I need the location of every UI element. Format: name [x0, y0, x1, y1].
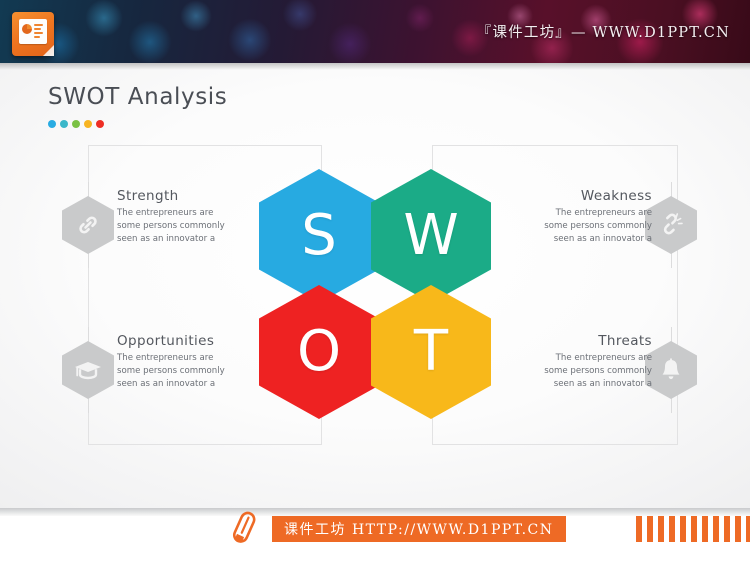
dot-red — [96, 120, 104, 128]
quadrant-body-opportunities: The entrepreneurs are some persons commo… — [117, 352, 277, 391]
logo-text-lines — [34, 24, 43, 40]
icon-pin-weakness — [645, 196, 697, 254]
banner-brand-text: 『课件工坊』— WWW.D1PPT.CN — [477, 0, 730, 63]
logo-pie-chart-icon — [22, 24, 32, 34]
quadrant-heading-weakness: Weakness — [500, 188, 652, 204]
powerpoint-logo-icon — [12, 12, 54, 56]
quadrant-heading-opportunities: Opportunities — [117, 333, 277, 349]
hexagon-strength[interactable]: S — [259, 169, 379, 303]
page-title: SWOT Analysis — [48, 84, 227, 110]
broken-chain-link-icon — [645, 196, 697, 254]
dot-yellow — [84, 120, 92, 128]
quadrant-heading-threats: Threats — [498, 333, 652, 349]
icon-pin-strength — [62, 196, 114, 254]
hexagon-letter-w: W — [371, 169, 491, 303]
logo-card-shape — [19, 19, 47, 44]
quadrant-body-threats: The entrepreneurs are some persons commo… — [498, 352, 652, 391]
icon-pin-opportunities — [62, 341, 114, 399]
chain-link-icon — [62, 196, 114, 254]
quadrant-body-weakness: The entrepreneurs are some persons commo… — [500, 207, 652, 246]
dot-green — [72, 120, 80, 128]
footer-stripes — [636, 516, 750, 542]
hexagon-threats[interactable]: T — [371, 285, 491, 419]
icon-pin-threats — [645, 341, 697, 399]
accent-dots — [48, 120, 104, 128]
bell-icon — [645, 341, 697, 399]
graduation-cap-icon — [62, 341, 114, 399]
quadrant-text-opportunities: Opportunities The entrepreneurs are some… — [117, 333, 277, 391]
hexagon-letter-s: S — [259, 169, 379, 303]
quadrant-body-strength: The entrepreneurs are some persons commo… — [117, 207, 267, 246]
banner-drop-shadow — [0, 63, 750, 70]
dot-cyan — [60, 120, 68, 128]
footer-divider — [0, 508, 750, 516]
hexagon-letter-o: O — [259, 285, 379, 419]
quadrant-text-strength: Strength The entrepreneurs are some pers… — [117, 188, 267, 246]
hexagon-opportunities[interactable]: O — [259, 285, 379, 419]
footer-url-bar: 课件工坊 HTTP://WWW.D1PPT.CN — [272, 516, 566, 542]
pen-icon — [228, 509, 258, 551]
quadrant-text-weakness: Weakness The entrepreneurs are some pers… — [500, 188, 652, 246]
quadrant-text-threats: Threats The entrepreneurs are some perso… — [498, 333, 652, 391]
dot-blue — [48, 120, 56, 128]
quadrant-heading-strength: Strength — [117, 188, 267, 204]
hexagon-weakness[interactable]: W — [371, 169, 491, 303]
slide-canvas: 『课件工坊』— WWW.D1PPT.CN SWOT Analysis — [0, 0, 750, 563]
hexagon-letter-t: T — [371, 285, 491, 419]
top-banner: 『课件工坊』— WWW.D1PPT.CN — [0, 0, 750, 63]
